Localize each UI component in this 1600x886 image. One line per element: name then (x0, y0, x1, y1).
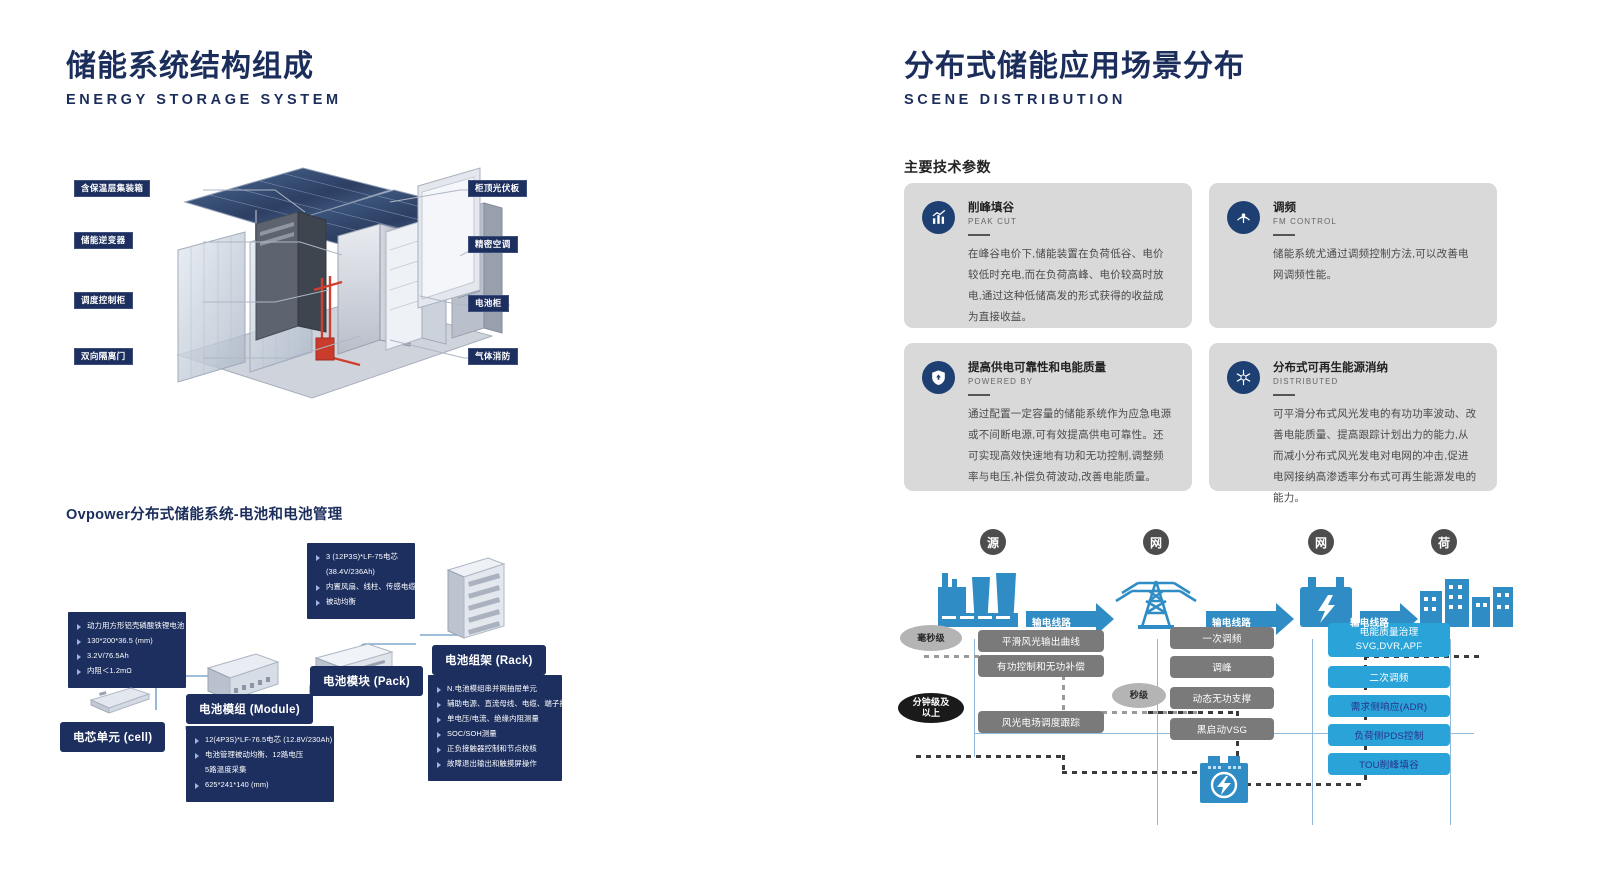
right-header: 分布式储能应用场景分布 SCENE DISTRIBUTION (904, 50, 1245, 108)
card-subtitle: FM CONTROL (1273, 217, 1479, 226)
cell-spec-item: 动力用方形铝壳磷酸铁锂电池 (77, 620, 177, 632)
battery-bolt-icon (1190, 751, 1258, 813)
arrow-label-transmission-3: 输电线路 (1350, 615, 1389, 629)
pill-primary-frequency-regulation: 一次调频 (1170, 627, 1274, 649)
card-text: 可平滑分布式风光发电的有功功率波动、改善电能质量、提高跟踪计划出力的能力,从而减… (1273, 404, 1479, 509)
signal-wave-glyph (1234, 208, 1253, 227)
rack-spec-item: 辅助电源、直流母线、电缆、端子排等 (437, 698, 553, 710)
bar-chart-glyph (929, 208, 948, 227)
dotted-route (916, 755, 1064, 758)
arrow-label-transmission-1: 输电线路 (1032, 615, 1071, 629)
timescale-millisecond: 毫秒级 (900, 625, 962, 651)
card-divider (1273, 394, 1295, 396)
card-power-reliability: 提高供电可靠性和电能质量 POWERED BY 通过配置一定容量的储能系统作为应… (904, 343, 1192, 491)
pack-spec-item: (38.4V/236Ah) (316, 566, 406, 578)
cell-spec-item: 130*200*36.5 (mm) (77, 635, 177, 647)
snowflake-glyph (1234, 368, 1253, 387)
card-title: 调频 (1273, 201, 1479, 215)
node-badge-load: 荷 (1431, 529, 1457, 555)
timescale-minute: 分钟级及 以上 (898, 693, 964, 723)
main-parameters-label: 主要技术参数 (904, 157, 991, 177)
card-subtitle: DISTRIBUTED (1273, 377, 1479, 386)
rack-product-image (440, 552, 512, 644)
pill-secondary-frequency-regulation: 二次调频 (1328, 666, 1450, 688)
cell-spec-item: 内阻＜1.2mΩ (77, 665, 177, 677)
node-badge-source: 源 (980, 529, 1006, 555)
node-badge-grid-1: 网 (1143, 529, 1169, 555)
module-spec-box: 12(4P3S)*LF-76.5电芯 (12.8V/230Ah) 电池管理被动均… (186, 726, 334, 802)
substation-icon (1300, 577, 1352, 627)
pill-demand-response-adr: 需求侧响应(ADR) (1328, 695, 1450, 717)
poster-page: 储能系统结构组成 ENERGY STORAGE SYSTEM (0, 0, 1600, 886)
module-spec-item: 5路温度采集 (195, 764, 325, 776)
pack-chip-label: 电池模块 (Pack) (310, 666, 423, 696)
module-spec-item: 12(4P3S)*LF-76.5电芯 (12.8V/230Ah) (195, 734, 325, 746)
pill-load-side-pds-control: 负荷侧PDS控制 (1328, 724, 1450, 746)
city-buildings-icon (1420, 579, 1513, 627)
right-title-cn: 分布式储能应用场景分布 (904, 50, 1245, 83)
card-subtitle: PEAK CUT (968, 217, 1174, 226)
rack-spec-item: 单电压/电流、绝缘内阻测量 (437, 713, 553, 725)
pack-spec-item: 3 (12P3S)*LF-75电芯 (316, 551, 406, 563)
rack-spec-item: 正负接触器控制和节点校核 (437, 743, 553, 755)
bar-chart-icon (922, 201, 955, 234)
scene-distribution-diagram: 源 网 网 荷 (880, 515, 1580, 845)
cell-product-image (85, 678, 155, 716)
module-chip-label: 电池模组 (Module) (186, 694, 313, 724)
card-fm-control: 调频 FM CONTROL 储能系统尤通过调频控制方法,可以改善电网调频性能。 (1209, 183, 1497, 328)
shield-icon (922, 361, 955, 394)
grid-line (1157, 639, 1158, 825)
rack-spec-item: N.电池模组串并网抽屉单元 (437, 683, 553, 695)
card-divider (1273, 234, 1295, 236)
rack-chip-label: 电池组架 (Rack) (432, 645, 546, 675)
card-title: 削峰填谷 (968, 201, 1174, 215)
pack-spec-item: 内置风扇、线柱、传感电缆等 (316, 581, 406, 593)
cell-spec-item: 3.2V/76.5Ah (77, 650, 177, 662)
arrow-label-transmission-2: 输电线路 (1212, 615, 1251, 629)
right-title-en: SCENE DISTRIBUTION (904, 92, 1245, 108)
power-plant-icon (938, 573, 1018, 627)
pack-spec-item: 被动均衡 (316, 596, 406, 608)
left-panel: 储能系统结构组成 ENERGY STORAGE SYSTEM (0, 0, 860, 886)
card-divider (968, 394, 990, 396)
snowflake-icon (1227, 361, 1260, 394)
transmission-tower-icon (1116, 581, 1196, 627)
cell-spec-box: 动力用方形铝壳磷酸铁锂电池 130*200*36.5 (mm) 3.2V/76.… (68, 612, 186, 688)
rack-spec-item: 故障退出输出和触摸屏操作 (437, 758, 553, 770)
signal-wave-icon (1227, 201, 1260, 234)
module-spec-item: 625*241*140 (mm) (195, 779, 325, 791)
pill-active-reactive-compensation: 有功控制和无功补偿 (978, 655, 1104, 677)
card-distributed-renewable: 分布式可再生能源消纳 DISTRIBUTED 可平滑分布式风光发电的有功功率波动… (1209, 343, 1497, 491)
card-divider (968, 234, 990, 236)
card-title: 提高供电可靠性和电能质量 (968, 361, 1174, 375)
grid-line (1312, 639, 1313, 825)
pill-black-start-vsg: 黑启动VSG (1170, 718, 1274, 740)
node-badge-grid-2: 网 (1308, 529, 1334, 555)
module-spec-item: 电池管理被动均衡、12路电压 (195, 749, 325, 761)
card-peak-cut: 削峰填谷 PEAK CUT 在峰谷电价下,储能装置在负荷低谷、电价较低时充电,而… (904, 183, 1192, 328)
pill-tou-peak-shaving: TOU削峰填谷 (1328, 753, 1450, 775)
grid-line (1450, 639, 1451, 825)
pack-spec-box: 3 (12P3S)*LF-75电芯 (38.4V/236Ah) 内置风扇、线柱、… (307, 543, 415, 619)
pill-smooth-output-curve: 平滑风光输出曲线 (978, 630, 1104, 652)
cell-chip-label: 电芯单元 (cell) (60, 722, 165, 752)
pill-dynamic-reactive-support: 动态无功支撑 (1170, 687, 1274, 709)
rack-spec-item: SOC/SOH测量 (437, 728, 553, 740)
card-text: 在峰谷电价下,储能装置在负荷低谷、电价较低时充电,而在负荷高峰、电价较高时放电,… (968, 244, 1174, 328)
card-subtitle: POWERED BY (968, 377, 1174, 386)
card-text: 储能系统尤通过调频控制方法,可以改善电网调频性能。 (1273, 244, 1479, 286)
pill-wind-solar-dispatch-tracking: 风光电场调度跟踪 (978, 711, 1104, 733)
card-title: 分布式可再生能源消纳 (1273, 361, 1479, 375)
pill-peak-shaving: 调峰 (1170, 656, 1274, 678)
battery-chain-diagram: 动力用方形铝壳磷酸铁锂电池 130*200*36.5 (mm) 3.2V/76.… (0, 0, 860, 886)
shield-glyph (929, 368, 948, 387)
rack-spec-box: N.电池模组串并网抽屉单元 辅助电源、直流母线、电缆、端子排等 单电压/电流、绝… (428, 675, 562, 781)
timescale-second: 秒级 (1112, 683, 1166, 708)
card-text: 通过配置一定容量的储能系统作为应急电源或不间断电源,可有效提高供电可靠性。还可实… (968, 404, 1174, 488)
dotted-route (1148, 711, 1238, 714)
